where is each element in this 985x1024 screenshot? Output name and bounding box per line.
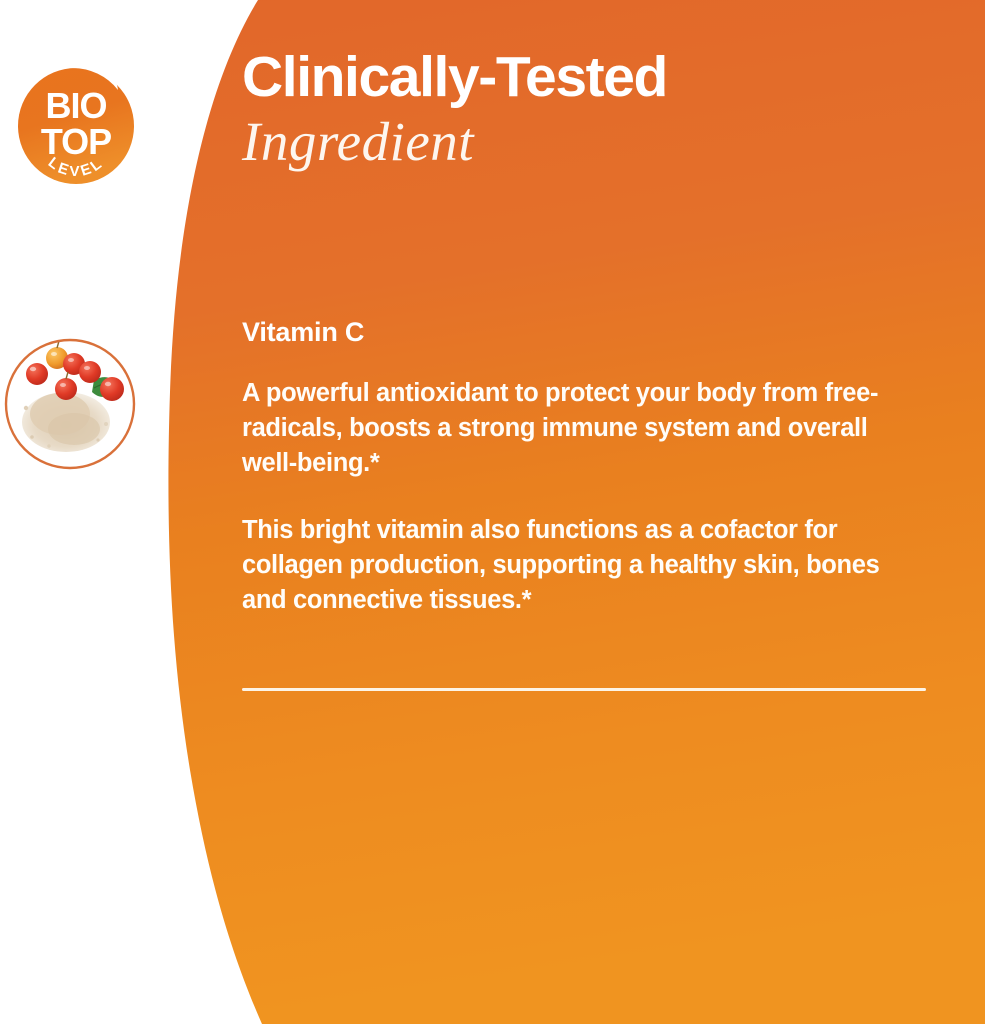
- description-paragraph-2: This bright vitamin also functions as a …: [242, 513, 892, 618]
- logo-text-bio: BIO: [45, 85, 106, 126]
- section-divider: [242, 688, 926, 691]
- content-column: Clinically-Tested Ingredient Vitamin C A…: [242, 0, 942, 1024]
- headline: Clinically-Tested Ingredient: [242, 46, 942, 174]
- ingredient-info-card: BIO TOP LEVEL: [0, 0, 985, 1024]
- headline-line-2: Ingredient: [242, 110, 942, 174]
- description-paragraph-1: A powerful antioxidant to protect your b…: [242, 376, 892, 481]
- body-block: Vitamin C A powerful antioxidant to prot…: [242, 316, 902, 618]
- ingredient-name: Vitamin C: [242, 316, 902, 348]
- ingredient-photo-acerola: [2, 336, 138, 472]
- headline-line-1: Clinically-Tested: [242, 46, 942, 108]
- bio-top-level-logo: BIO TOP LEVEL: [14, 64, 138, 188]
- photo-inner: [2, 336, 138, 472]
- logo-text-top: TOP: [41, 121, 111, 162]
